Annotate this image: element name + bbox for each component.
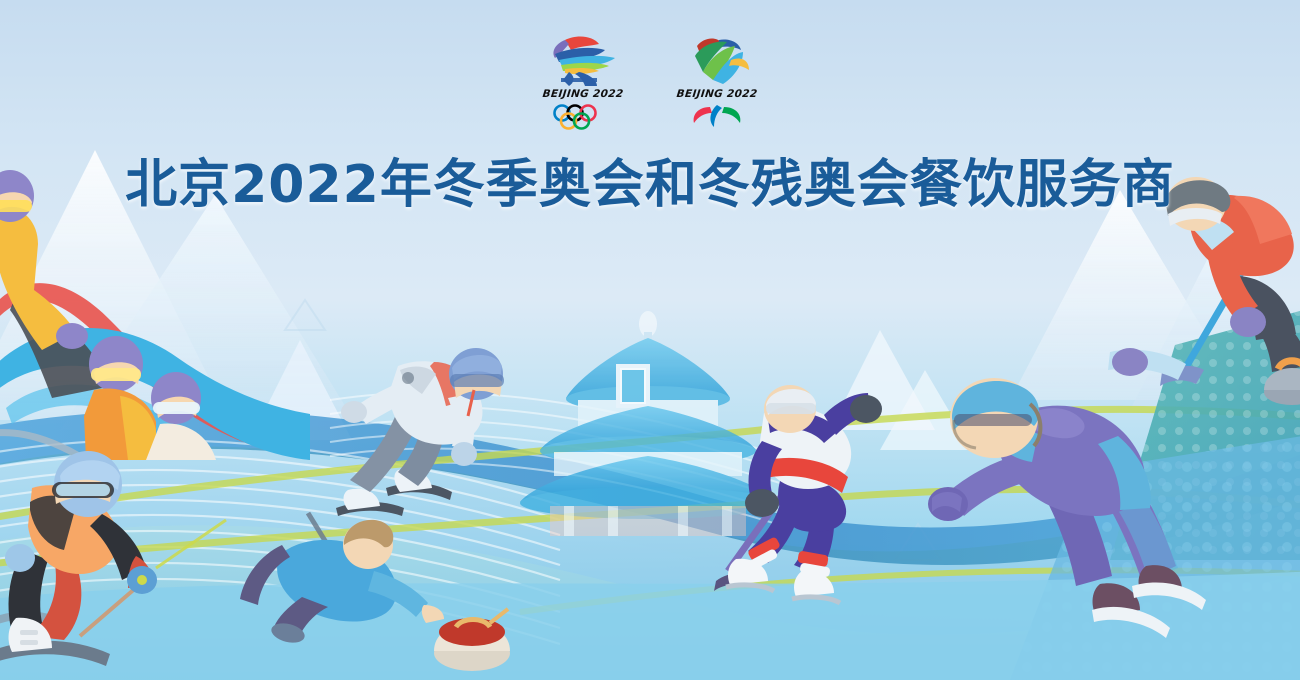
olympic-emblem-wordmark: BEIJING 2022 (534, 88, 631, 100)
athlete-curler-delivering (1140, 180, 1300, 430)
curling-stone (434, 609, 510, 671)
olympic-rings-icon (550, 104, 616, 130)
paralympic-emblem-wordmark: BEIJING 2022 (668, 88, 765, 100)
beijing-2022-olympic-emblem: BEIJING 2022 (535, 32, 631, 136)
athlete-curler-sweeping (250, 505, 520, 680)
olympic-emblem-symbol (535, 32, 631, 90)
paralympic-agitos-icon (688, 104, 746, 130)
athlete-alpine-skier (0, 440, 260, 680)
beijing-2022-catering-banner: BEIJING 2022 BEIJING 20 (0, 0, 1300, 680)
beijing-2022-paralympic-emblem: BEIJING 2022 (669, 32, 765, 136)
paralympic-emblem-symbol (669, 32, 765, 90)
page-title: 北京2022年冬季奥会和冬残奥会餐饮服务商 (0, 142, 1300, 217)
athlete-ice-hockey-player (720, 385, 940, 615)
